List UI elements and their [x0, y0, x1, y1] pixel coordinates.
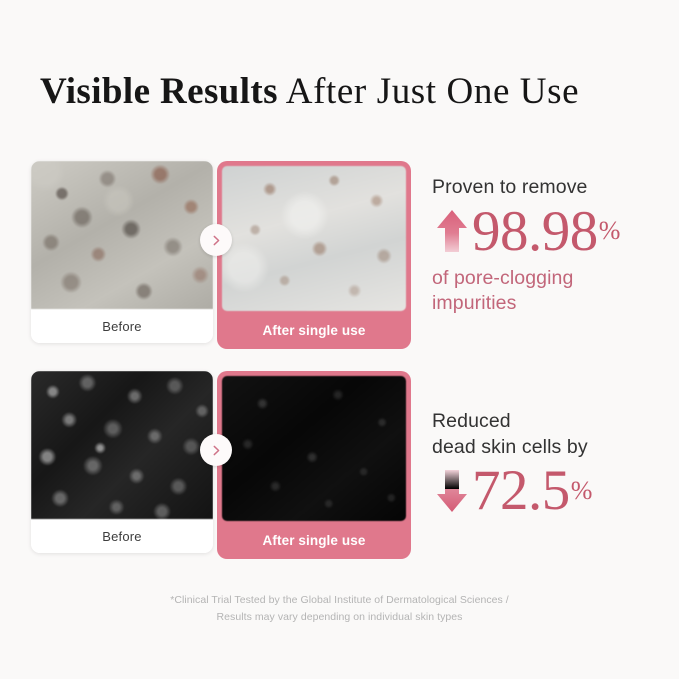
- stat-lead-dead-skin: Reduced: [432, 409, 592, 435]
- before-card-impurities[interactable]: Before: [31, 161, 213, 343]
- before-skin-image-impurities: [31, 161, 213, 309]
- stat-unit-impurities: %: [599, 218, 621, 244]
- stat-lead-impurities: Proven to remove: [432, 175, 632, 201]
- page-title-emphasis: Visible Results: [40, 71, 278, 112]
- after-label-impurities: After single use: [222, 311, 406, 349]
- before-label-impurities: Before: [31, 309, 213, 343]
- after-label-dead-skin: After single use: [222, 521, 406, 559]
- before-skin-image-dead-skin: [31, 371, 213, 519]
- stat-value-impurities: 98.98: [472, 203, 598, 260]
- stat-block-dead-skin: Reduced dead skin cells by 72.5 %: [432, 409, 592, 519]
- chevron-right-icon-dead-skin[interactable]: [200, 434, 232, 466]
- stat-figure-impurities: 98.98 %: [432, 203, 632, 260]
- page-title: Visible Results After Just One Use: [40, 70, 579, 113]
- chevron-right-icon-impurities[interactable]: [200, 224, 232, 256]
- stat-unit-dead-skin: %: [571, 478, 593, 504]
- footnote-line-2: Results may vary depending on individual…: [0, 609, 679, 626]
- after-skin-image-impurities: [222, 166, 406, 311]
- stat-block-impurities: Proven to remove 98.98 % of pore-cloggin…: [432, 175, 632, 317]
- page-title-rest: After Just One Use: [278, 71, 579, 112]
- after-skin-image-dead-skin: [222, 376, 406, 521]
- stat-value-dead-skin: 72.5: [472, 462, 570, 519]
- stat-lead-line2-dead-skin: dead skin cells by: [432, 435, 592, 461]
- arrow-up-icon: [432, 207, 472, 255]
- footnote-line-1: *Clinical Trial Tested by the Global Ins…: [0, 592, 679, 609]
- before-card-dead-skin[interactable]: Before: [31, 371, 213, 553]
- after-card-impurities[interactable]: After single use: [217, 161, 411, 349]
- after-card-dead-skin[interactable]: After single use: [217, 371, 411, 559]
- arrow-down-icon: [432, 467, 472, 515]
- stat-figure-dead-skin: 72.5 %: [432, 462, 592, 519]
- stat-tail-impurities: of pore-clogging impurities: [432, 266, 632, 317]
- footnote: *Clinical Trial Tested by the Global Ins…: [0, 592, 679, 627]
- before-label-dead-skin: Before: [31, 519, 213, 553]
